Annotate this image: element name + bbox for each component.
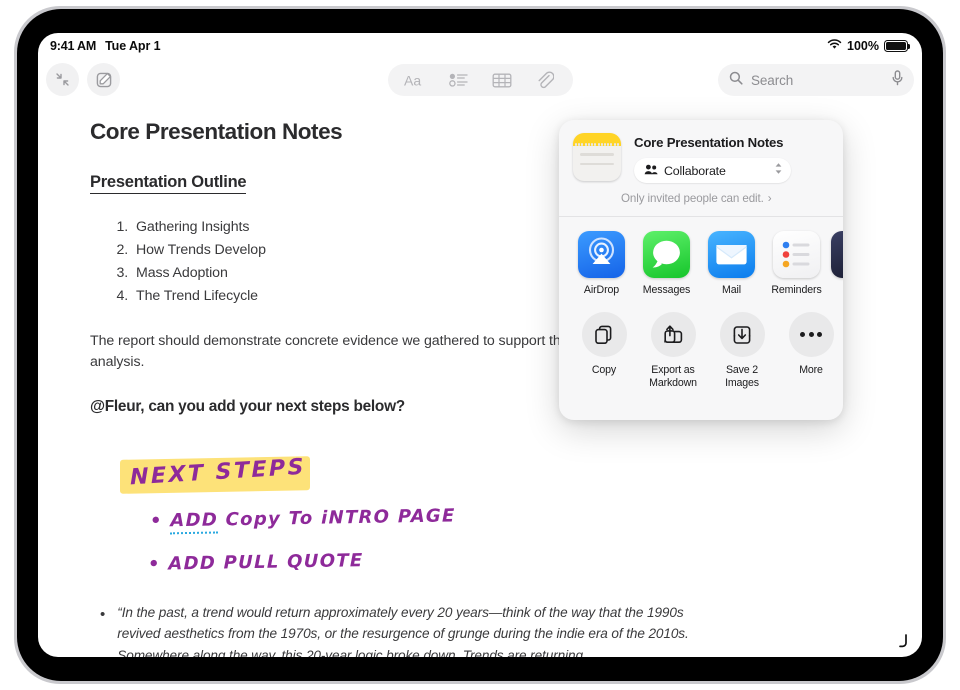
quote-bullet: • (100, 602, 105, 657)
share-sheet-popup: Core Presentation Notes Collaborate (559, 120, 843, 420)
collaborate-label: Collaborate (664, 164, 768, 178)
handwritten-bullet-1-rest: Copy To iNTRO PAGE (218, 505, 456, 530)
resize-handle-icon[interactable] (892, 633, 908, 649)
share-app-partial-cutoff[interactable] (835, 231, 843, 278)
permission-text: Only invited people can edit. (621, 192, 764, 205)
collaborate-dropdown[interactable]: Collaborate (634, 158, 791, 183)
mail-icon (708, 231, 755, 278)
airdrop-icon (578, 231, 625, 278)
permission-note[interactable]: Only invited people can edit. › (621, 192, 843, 205)
toolbar-left-group (46, 63, 120, 96)
share-action-export-markdown[interactable]: Export as Markdown (644, 312, 702, 390)
handwritten-bullet-2: • ADD PULL QUOTE (148, 550, 363, 575)
share-app-label: Mail (722, 284, 741, 296)
reminders-icon (773, 231, 820, 278)
chevron-up-down-icon (774, 162, 783, 180)
paperclip-icon[interactable] (527, 66, 563, 94)
status-bar-right: 100% (827, 37, 908, 55)
partial-app-icon (831, 231, 843, 278)
quote-text: “In the past, a trend would return appro… (117, 602, 707, 657)
collapse-arrows-icon[interactable] (46, 63, 79, 96)
status-time: 9:41 AM (50, 39, 96, 53)
share-sheet-title: Core Presentation Notes (634, 135, 829, 150)
search-input[interactable]: Search (751, 73, 883, 88)
search-icon (729, 71, 743, 90)
permission-chevron-icon: › (768, 192, 772, 205)
screenshot-root: 9:41 AM Tue Apr 1 100% (0, 0, 960, 690)
share-app-label: Messages (643, 284, 690, 296)
handwritten-bullet-2-text: ADD PULL QUOTE (168, 550, 363, 574)
compose-note-icon[interactable] (87, 63, 120, 96)
notes-app-icon (573, 133, 621, 181)
format-text-aa-icon[interactable]: Aa (398, 66, 434, 94)
device-screen: 9:41 AM Tue Apr 1 100% (38, 33, 922, 657)
section-heading: Presentation Outline (90, 173, 246, 194)
handwritten-underlined-word: ADD (170, 509, 218, 534)
share-app-airdrop[interactable]: AirDrop (575, 231, 628, 296)
share-sheet-header: Core Presentation Notes Collaborate (559, 120, 843, 183)
formatting-toolbar-group: Aa (388, 64, 573, 96)
table-icon[interactable] (484, 66, 520, 94)
search-bar[interactable]: Search (718, 64, 914, 96)
battery-full-icon (884, 40, 908, 52)
share-action-label: Export as Markdown (644, 364, 702, 390)
share-action-save-images[interactable]: Save 2 Images (713, 312, 771, 390)
messages-icon (643, 231, 690, 278)
checklist-icon[interactable] (441, 66, 477, 94)
svg-text:Aa: Aa (404, 72, 421, 88)
status-bar: 9:41 AM Tue Apr 1 100% (38, 33, 922, 59)
share-app-reminders[interactable]: Reminders (770, 231, 823, 296)
status-bar-left: 9:41 AM Tue Apr 1 (50, 39, 160, 53)
share-action-more[interactable]: More (782, 312, 840, 390)
share-app-mail[interactable]: Mail (705, 231, 758, 296)
share-action-label: More (799, 364, 823, 377)
share-action-label: Save 2 Images (713, 364, 771, 390)
export-share-icon (651, 312, 696, 357)
people-group-icon (644, 162, 658, 180)
copy-icon (582, 312, 627, 357)
handwritten-bullet-1: • ADD Copy To iNTRO PAGE (150, 505, 456, 531)
share-app-label: AirDrop (584, 284, 619, 296)
share-app-messages[interactable]: Messages (640, 231, 693, 296)
share-apps-row: AirDrop Messages (559, 217, 843, 296)
save-download-icon (720, 312, 765, 357)
wifi-icon (827, 37, 842, 55)
more-ellipsis-icon (789, 312, 834, 357)
handwriting-region: NEXT STEPS • ADD Copy To iNTRO PAGE • AD… (120, 446, 876, 586)
app-toolbar: Aa (38, 59, 922, 103)
share-app-label: Reminders (771, 284, 821, 296)
share-actions-row: Copy Export as Markdown (559, 296, 843, 390)
share-action-label: Copy (592, 364, 616, 377)
quote-block: • “In the past, a trend would return app… (100, 602, 876, 657)
microphone-icon[interactable] (891, 70, 904, 91)
share-action-copy[interactable]: Copy (575, 312, 633, 390)
battery-percent: 100% (847, 39, 879, 53)
status-date: Tue Apr 1 (105, 39, 160, 53)
